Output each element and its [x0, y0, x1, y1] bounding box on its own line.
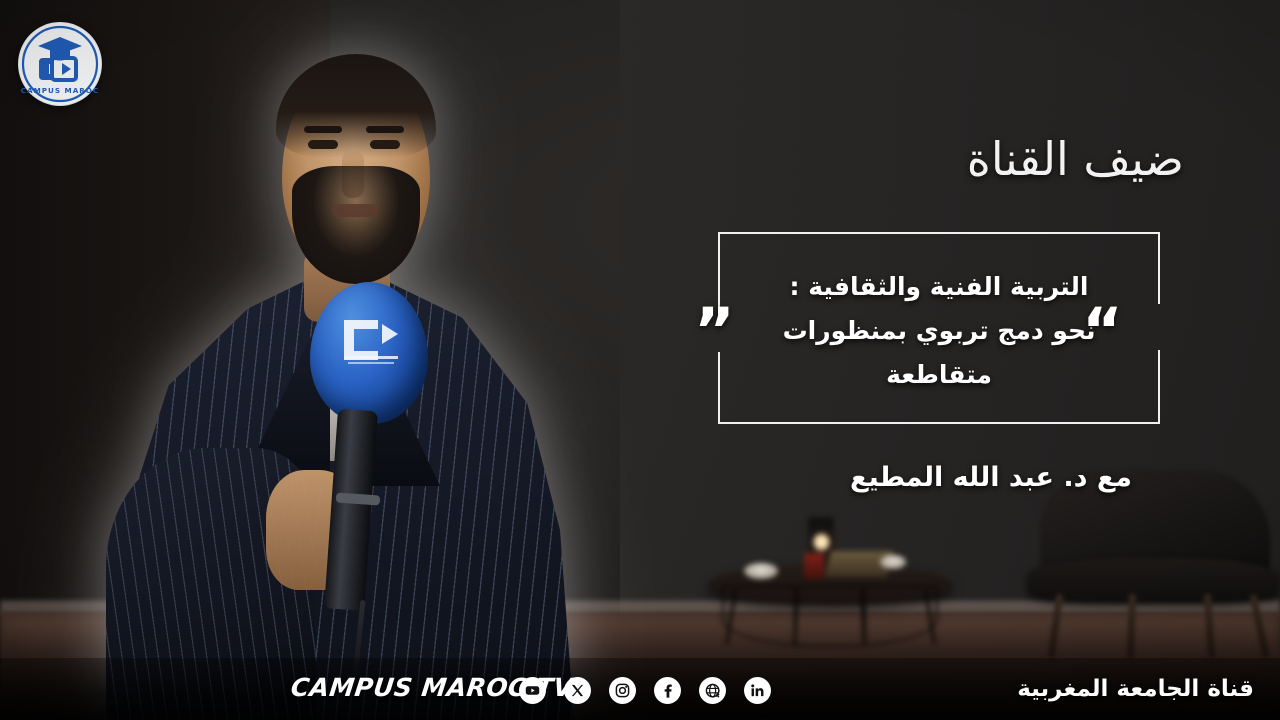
quote-open-mark: “ [1082, 300, 1123, 362]
coffee-table [700, 505, 960, 655]
table-cup [744, 563, 778, 579]
mouth [332, 204, 378, 217]
youtube-icon[interactable] [519, 677, 546, 704]
chair-leg [1048, 594, 1064, 658]
page-title: ضيف القناة [967, 132, 1184, 186]
quote-close-mark: ” [694, 300, 735, 362]
speaker-name: مع د. عبد الله المطيع [850, 462, 1132, 493]
facebook-icon[interactable] [654, 677, 681, 704]
table-frame [722, 585, 938, 647]
quote-line-1: التربية الفنية والثقافية : [790, 272, 1089, 301]
quote-line-3: متقاطعة [886, 360, 992, 389]
armchair [1020, 470, 1280, 670]
eyebrow [304, 126, 342, 133]
chair-seat [1028, 558, 1278, 602]
table-decor [804, 553, 824, 579]
chair-leg [1204, 594, 1215, 658]
chair-leg [1249, 594, 1269, 658]
quote-line-2: نحو دمج تربوي بمنظورات [783, 316, 1096, 345]
lamp-light [813, 531, 830, 553]
channel-logo[interactable]: CAMPUS MAROC [18, 22, 102, 106]
eye [370, 140, 400, 149]
eye [308, 140, 338, 149]
promo-graphic: CAMPUS MAROC ضيف القناة التربية الفنية و… [0, 0, 1280, 720]
social-links [519, 677, 771, 704]
table-cup [880, 555, 906, 569]
eyebrow [366, 126, 404, 133]
chair-leg [1127, 594, 1136, 658]
hair [276, 54, 436, 158]
website-icon[interactable] [699, 677, 726, 704]
channel-name-arabic: قناة الجامعة المغربية [1017, 676, 1254, 702]
x-twitter-icon[interactable] [564, 677, 591, 704]
linkedin-icon[interactable] [744, 677, 771, 704]
footer-bar: CAMPUS MAROC TV [0, 658, 1280, 720]
instagram-icon[interactable] [609, 677, 636, 704]
svg-text:CAMPUS MAROC: CAMPUS MAROC [21, 86, 99, 95]
microphone-logo [338, 312, 404, 368]
